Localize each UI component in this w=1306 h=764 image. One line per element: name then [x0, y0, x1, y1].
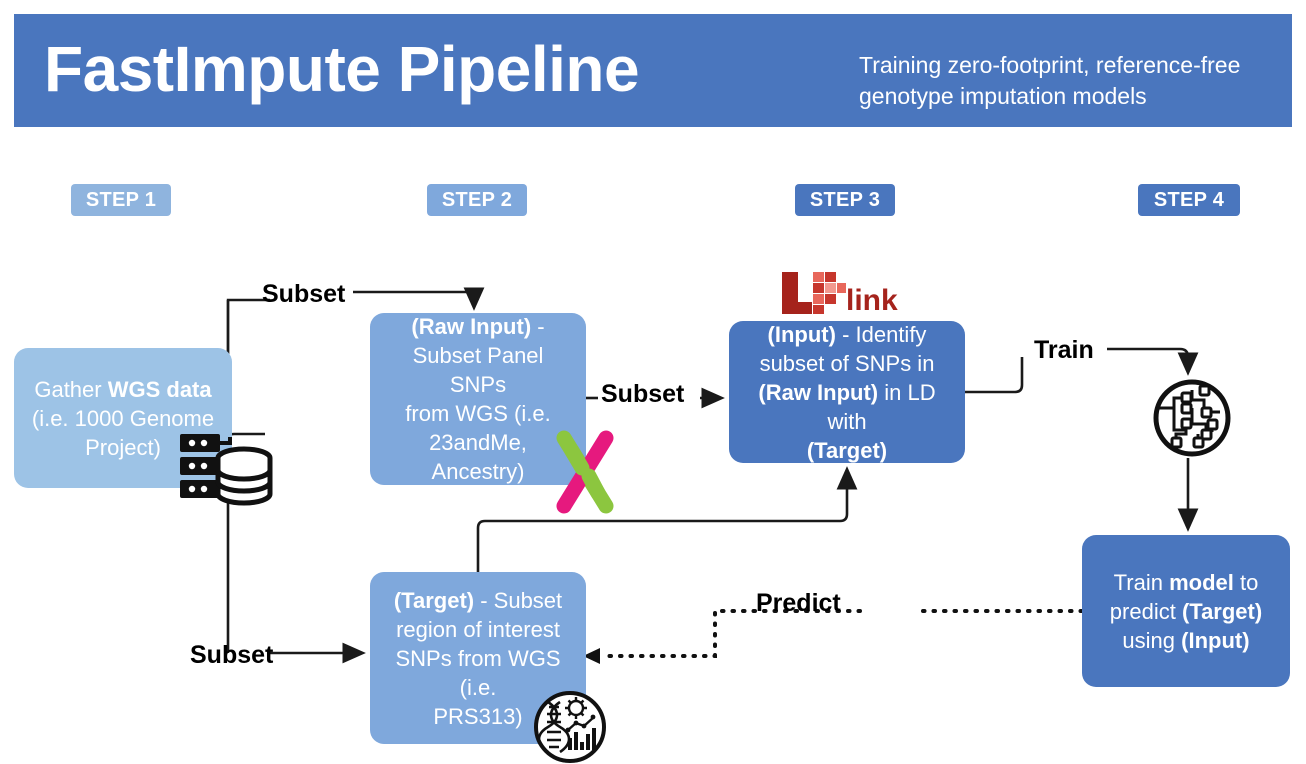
dna-analytics-icon	[532, 690, 608, 764]
box-train-model-label: Train model topredict (Target)using (Inp…	[1110, 568, 1262, 655]
box-input: (Input) - Identifysubset of SNPs in(Raw …	[729, 321, 965, 463]
connector-label-subset-top: Subset	[262, 280, 345, 309]
box-raw-input-label: (Raw Input) -Subset Panel SNPsfrom WGS (…	[382, 312, 574, 486]
connector-label-predict: Predict	[756, 589, 841, 618]
connector-label-subset-middle: Subset	[601, 380, 684, 409]
plink-logo-word: link	[846, 284, 898, 316]
connector-label-subset-bottom: Subset	[190, 641, 273, 670]
chromosome-icon	[548, 428, 622, 516]
ai-circuit-icon	[1152, 378, 1232, 458]
plink-logo: link	[780, 270, 914, 316]
pipeline-diagram: FastImpute Pipeline Training zero-footpr…	[0, 0, 1306, 764]
database-server-icon	[178, 428, 274, 514]
box-input-label: (Input) - Identifysubset of SNPs in(Raw …	[741, 320, 953, 465]
connector-label-train: Train	[1034, 336, 1094, 365]
box-train-model: Train model topredict (Target)using (Inp…	[1082, 535, 1290, 687]
